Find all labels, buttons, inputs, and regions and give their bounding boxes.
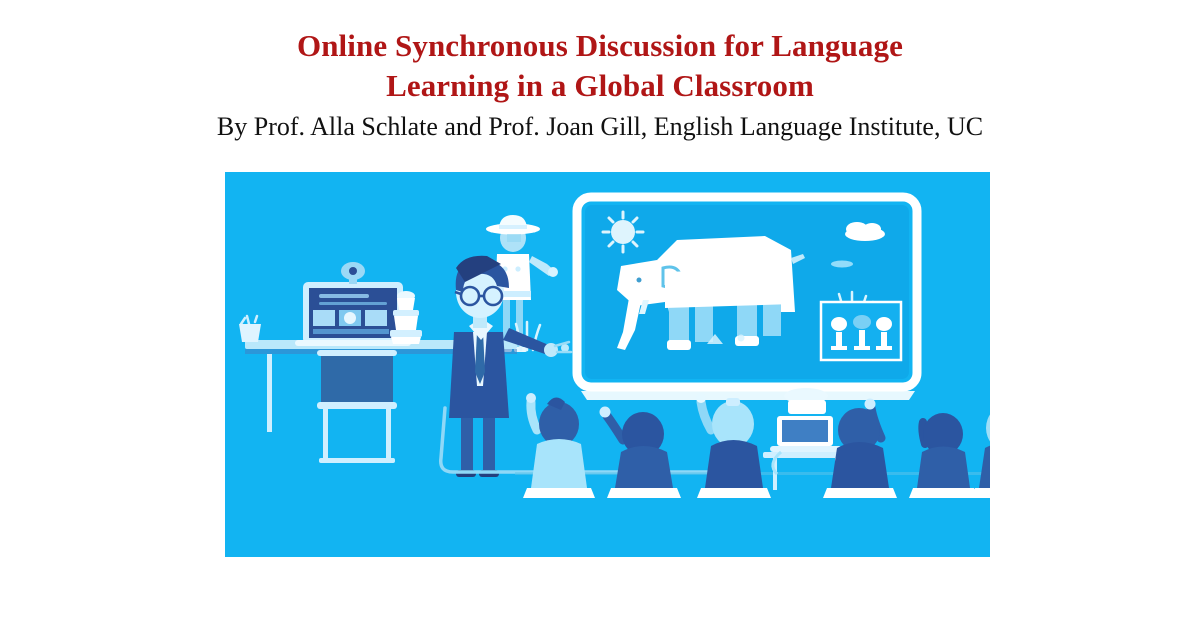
slide-heading-block: Online Synchronous Discussion for Langua… <box>0 26 1200 144</box>
title-line-1: Online Synchronous Discussion for Langua… <box>0 26 1200 66</box>
video-call-inset[interactable] <box>821 302 901 360</box>
sun-icon <box>603 212 643 252</box>
title-line-2: Learning in a Global Classroom <box>0 66 1200 106</box>
author-byline: By Prof. Alla Schlate and Prof. Joan Gil… <box>0 110 1200 144</box>
cloud-icon-small <box>831 261 853 268</box>
illustration-canvas <box>225 172 990 557</box>
global-classroom-illustration <box>225 172 990 557</box>
screen-stand <box>581 391 915 400</box>
page-title: Online Synchronous Discussion for Langua… <box>0 26 1200 106</box>
presentation-slide: Online Synchronous Discussion for Langua… <box>0 0 1200 630</box>
desk-leg <box>267 354 272 432</box>
